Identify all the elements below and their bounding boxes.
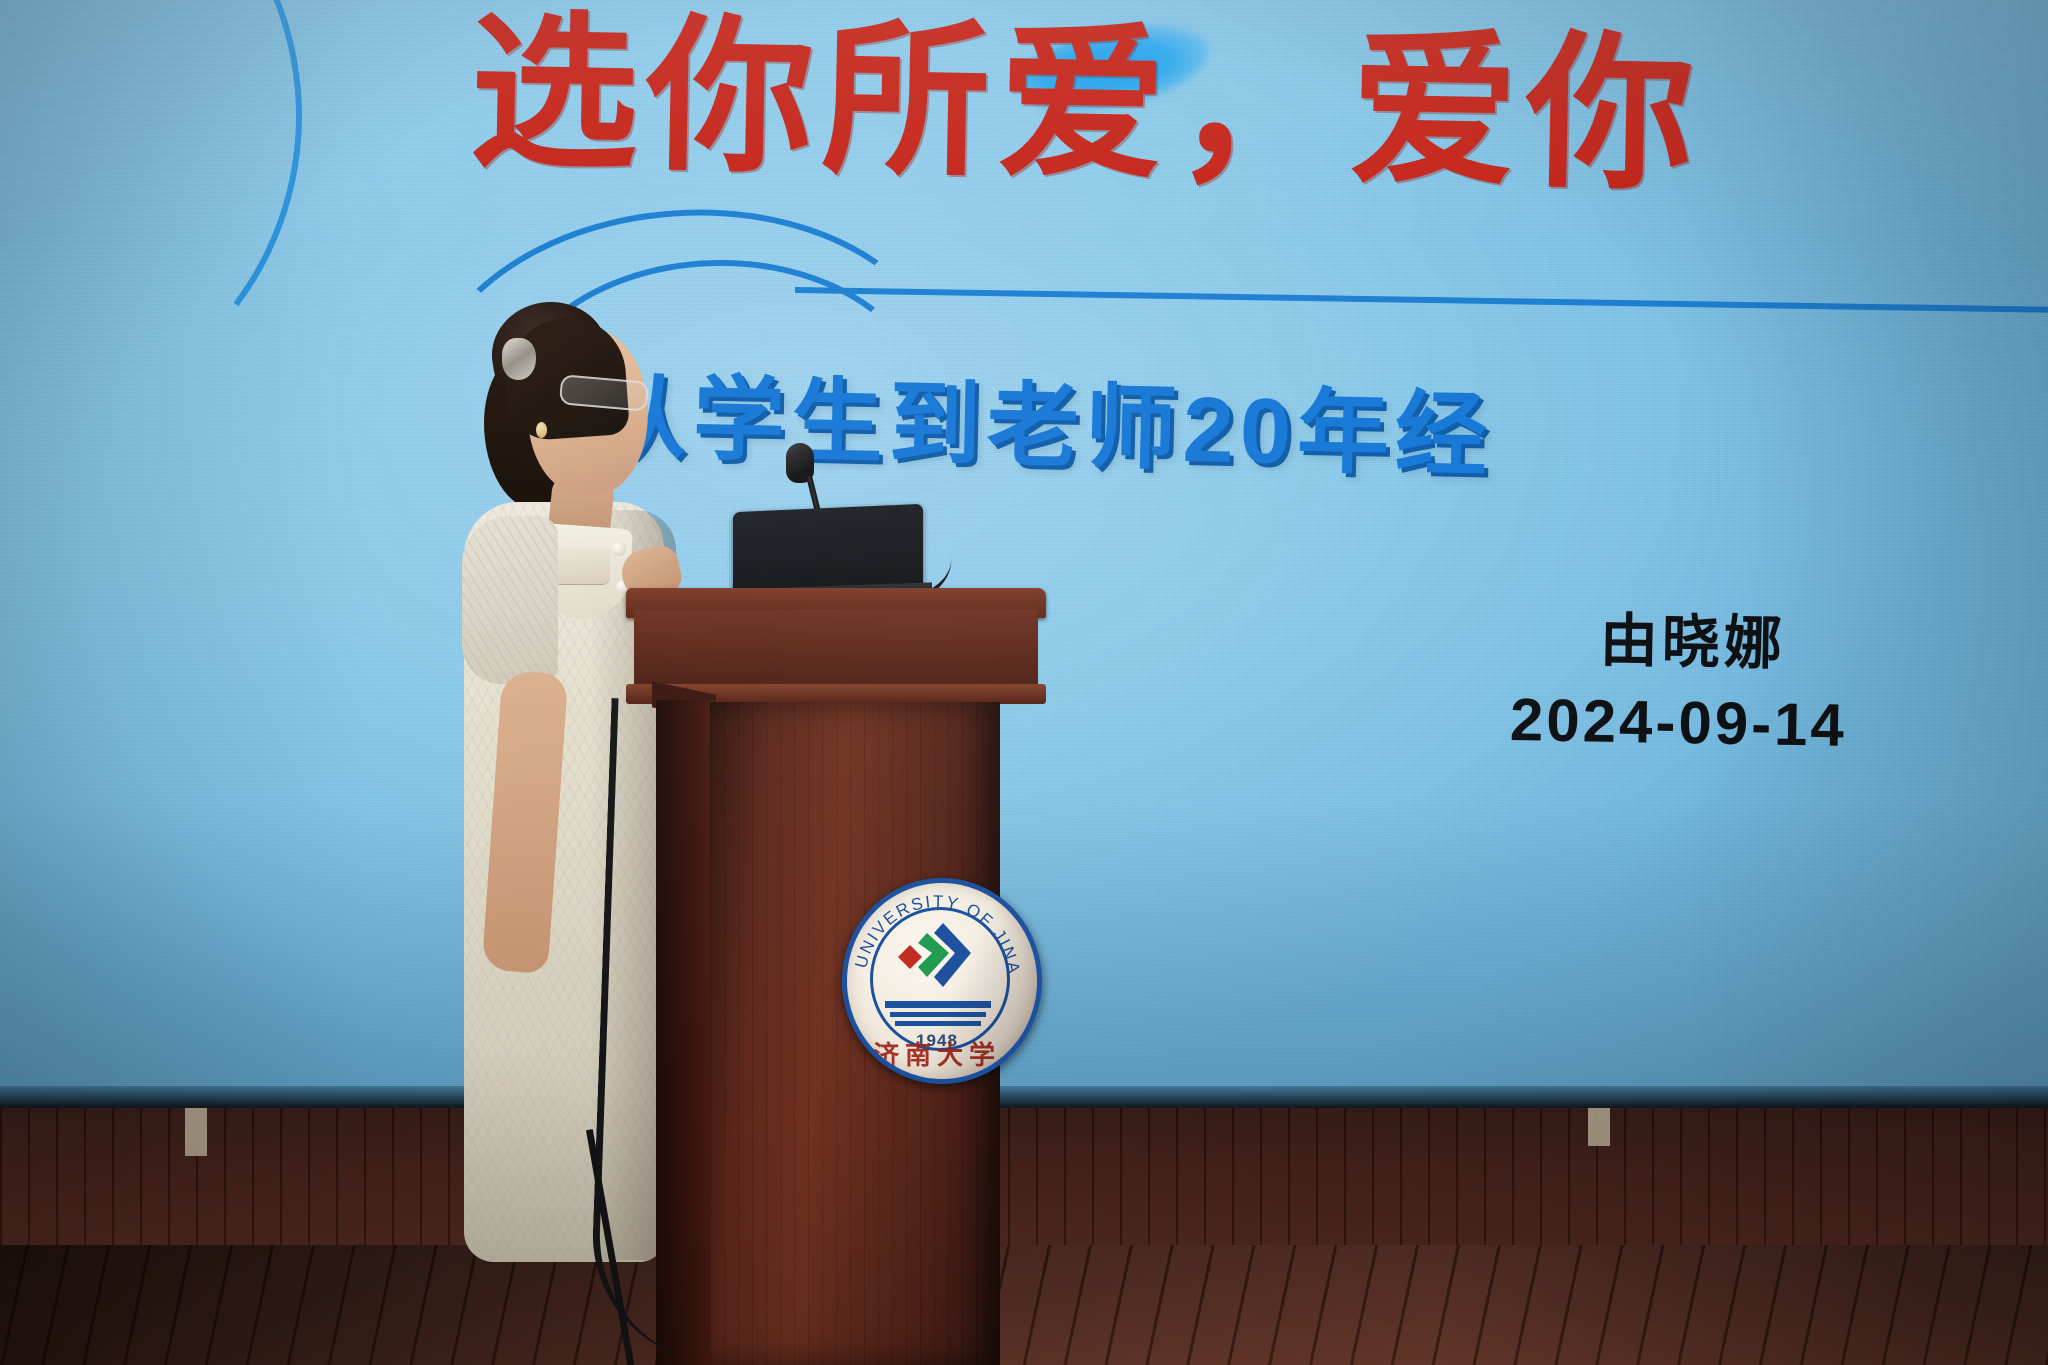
emblem-shading [847, 883, 1037, 1079]
wall-outlet-plate [185, 1108, 207, 1156]
earring-icon [536, 422, 547, 438]
dress-button [612, 542, 626, 556]
university-emblem: UNIVERSITY OF JINAN 1948 济南大学 [842, 878, 1042, 1084]
dress-sleeve [462, 516, 558, 684]
photo-scene: 选你所爱，爱你 从学生到老师20年经 由晓娜 2024-09-14 [0, 0, 2048, 1365]
podium-body: UNIVERSITY OF JINAN 1948 济南大学 [710, 702, 1000, 1365]
podium-front-panel [634, 610, 1038, 692]
hair-clip-icon [502, 338, 536, 380]
